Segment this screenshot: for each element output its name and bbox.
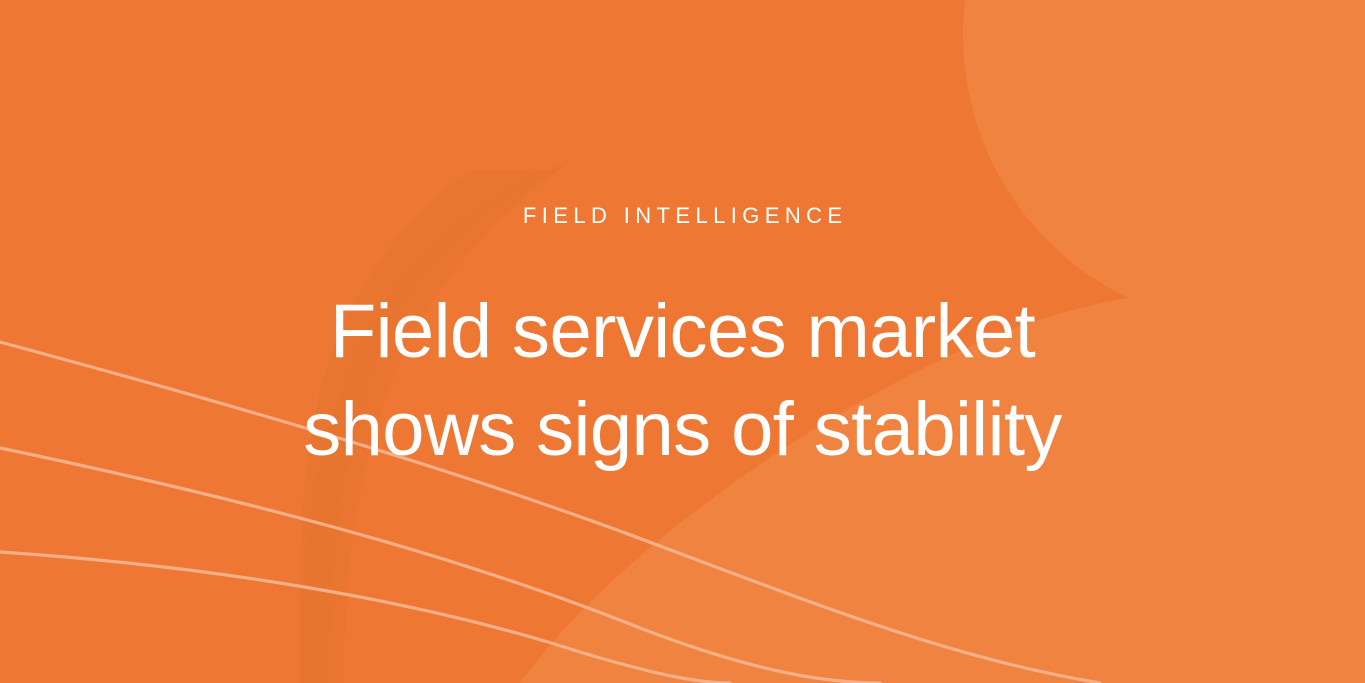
- banner-headline: Field services market shows signs of sta…: [303, 283, 1062, 479]
- headline-line-2: shows signs of stability: [303, 381, 1062, 479]
- headline-line-1: Field services market: [303, 283, 1062, 381]
- promo-banner: FIELD INTELLIGENCE Field services market…: [0, 0, 1365, 683]
- banner-eyebrow: FIELD INTELLIGENCE: [518, 205, 848, 227]
- banner-content: FIELD INTELLIGENCE Field services market…: [0, 0, 1365, 683]
